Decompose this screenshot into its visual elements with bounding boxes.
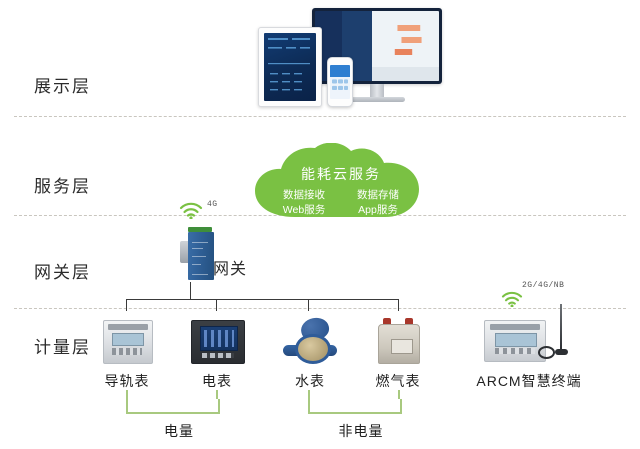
cloud-service: 能耗云服务 数据接收 Web服务 数据存储 App服务 [243,143,439,221]
group-label-non-electric: 非电量 [316,421,406,441]
gateway-label: 网关 [213,255,247,279]
smartphone-header [330,65,350,77]
branch-wire-din-rail-meter [126,299,127,311]
meter-label-gas: 燃气表 [361,371,435,391]
gateway-detail-line [192,264,201,265]
gateway-bus-wire [126,299,399,300]
layer-label-metering: 计量层 [34,333,91,358]
smartphone-screen [330,65,350,99]
group-bracket-non-electric [308,399,402,414]
terminal-label-arcm: ARCM智慧终端 [474,371,584,391]
antenna-cable [538,346,555,359]
cloud-service-item: 数据存储 [341,188,415,203]
network-label-terminal: 2G/4G/NB [522,281,564,290]
din-rail-display [112,333,144,346]
cloud-service-item: 数据接收 [267,188,341,203]
gateway-detail-line [192,248,203,249]
arcm-terminal-block [490,324,540,330]
meter-label-power: 电表 [180,371,254,391]
antenna-icon [538,304,572,360]
water-meter-icon [283,318,337,362]
branch-wire-gas-meter [398,299,399,311]
din-rail-buttons [112,348,142,355]
gas-meter-body [378,324,420,364]
cloud-services: 数据接收 Web服务 数据存储 App服务 [243,188,439,218]
smartphone-icon [327,57,353,107]
power-meter-buttons [202,353,234,358]
gas-meter-display [391,339,413,354]
monitor-stand [370,84,384,98]
antenna-rod [560,304,562,350]
power-meter-graph [204,330,234,347]
monitor-base [349,97,405,102]
wifi-icon-gateway [178,199,204,219]
tablet-icon [258,27,322,107]
cloud-service-item: App服务 [341,203,415,218]
gateway-detail-line [192,274,208,275]
layer-label-gateway: 网关层 [34,258,91,283]
power-meter-display [200,326,238,351]
gateway-detail-line [192,242,208,243]
din-rail-terminal [108,324,148,330]
monitor-map-panel [372,11,439,81]
divider-gateway-metering [14,308,626,309]
gateway-trunk-wire [190,282,191,300]
din-rail-meter-icon [103,320,153,364]
cloud-service-item: Web服务 [267,203,341,218]
branch-wire-water-meter [308,299,309,311]
group-tick-gas [398,390,400,399]
arcm-terminal-icon [484,320,546,362]
arcm-buttons [495,348,535,354]
antenna-base [555,349,568,355]
architecture-diagram: 展示层 服务层 网关层 计量层 [0,0,640,449]
group-label-electric: 电量 [134,421,224,441]
group-tick-power [216,390,218,399]
cloud-service-column-2: 数据存储 App服务 [341,188,415,218]
gateway-detail-line [192,256,206,257]
wifi-icon-terminal [500,288,524,307]
branch-wire-power-meter [216,299,217,311]
group-tick-din-rail [126,390,128,399]
layer-label-display: 展示层 [34,72,91,97]
cloud-service-column-1: 数据接收 Web服务 [267,188,341,218]
meter-label-water: 水表 [273,371,347,391]
divider-display-service [14,116,626,117]
group-tick-water [308,390,310,399]
meter-label-din-rail: 导轨表 [90,371,164,391]
layer-label-service: 服务层 [34,172,91,197]
cloud-title: 能耗云服务 [243,164,439,184]
water-meter-dial [295,334,331,364]
arcm-display [495,333,537,347]
power-meter-icon [191,320,245,364]
gateway-body [188,232,214,280]
tablet-screen [264,33,316,101]
gas-meter-icon [376,318,420,362]
group-bracket-electric [126,399,220,414]
network-label-gateway: 4G [207,200,218,209]
